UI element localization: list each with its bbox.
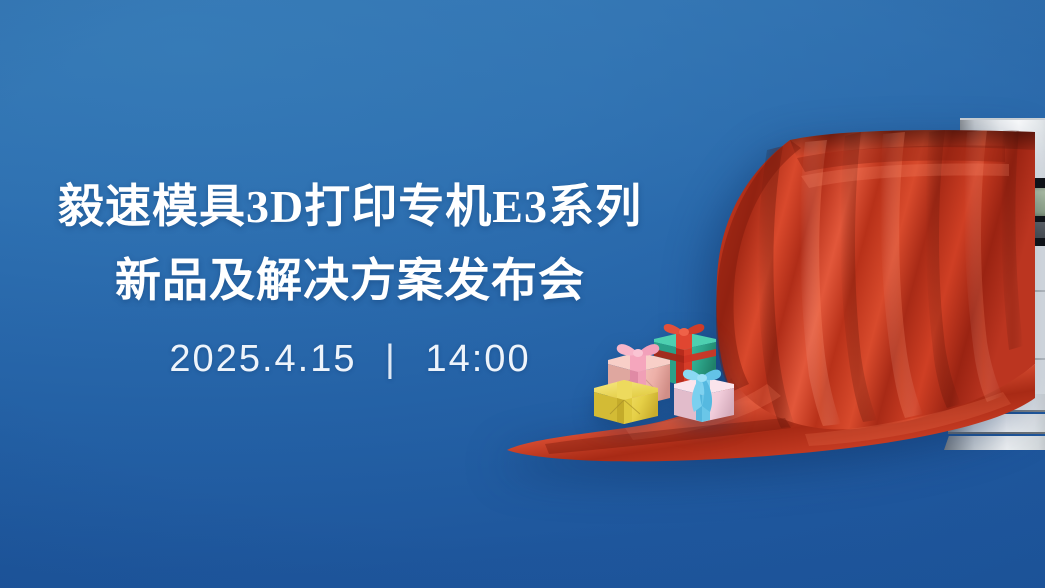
datetime-separator: |	[385, 338, 397, 381]
headline-line-1: 毅速模具3D打印专机E3系列	[0, 170, 700, 244]
event-date: 2025.4.15	[169, 338, 356, 380]
event-datetime: 2025.4.15 | 14:00	[0, 338, 700, 381]
page-title: 毅速模具3D打印专机E3系列 新品及解决方案发布会	[0, 170, 700, 318]
headline-line-2: 新品及解决方案发布会	[0, 244, 700, 318]
event-banner: 毅速模具3D打印专机E3系列 新品及解决方案发布会 2025.4.15 | 14…	[0, 0, 1045, 588]
event-time: 14:00	[425, 338, 530, 380]
yellow-gift-box	[594, 380, 658, 424]
